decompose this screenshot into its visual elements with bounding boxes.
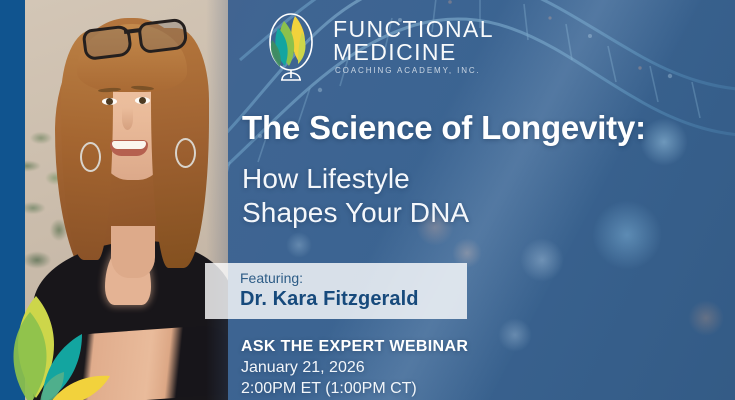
webinar-date: January 21, 2026 (241, 357, 468, 378)
photo-eye-left (102, 98, 117, 105)
speaker-name: Dr. Kara Fitzgerald (240, 287, 467, 312)
photo-eye-right (135, 97, 150, 104)
page-subtitle-line1: How Lifestyle (242, 162, 722, 196)
left-accent-bar (0, 0, 25, 400)
photo-edge-fade (206, 0, 228, 400)
webinar-promo-graphic: FUNCTIONAL MEDICINE COACHING ACADEMY, IN… (0, 0, 735, 400)
photo-earring-right (175, 138, 196, 168)
featuring-panel: Featuring: Dr. Kara Fitzgerald (205, 263, 467, 319)
page-subtitle-line2: Shapes Your DNA (242, 196, 722, 230)
brand-line-functional: FUNCTIONAL (333, 18, 494, 41)
headline-block: The Science of Longevity: How Lifestyle … (242, 108, 722, 230)
photo-earring-left (80, 142, 101, 172)
brand-wordmark: FUNCTIONAL MEDICINE COACHING ACADEMY, IN… (333, 14, 494, 78)
leaf-globe-logo-icon (258, 10, 324, 82)
photo-nose (122, 108, 133, 130)
page-title: The Science of Longevity: (242, 108, 722, 148)
brand-line-medicine: MEDICINE (333, 41, 494, 64)
page-subtitle: How Lifestyle Shapes Your DNA (242, 162, 722, 230)
speaker-photo (25, 0, 228, 400)
brand-logo: FUNCTIONAL MEDICINE COACHING ACADEMY, IN… (258, 10, 494, 82)
featuring-label: Featuring: (240, 270, 467, 287)
webinar-kicker: ASK THE EXPERT WEBINAR (241, 336, 468, 357)
photo-neck (111, 226, 155, 278)
webinar-time: 2:00PM ET (1:00PM CT) (241, 378, 468, 399)
webinar-details: ASK THE EXPERT WEBINAR January 21, 2026 … (241, 336, 468, 399)
photo-smile (110, 140, 148, 156)
brand-line-academy: COACHING ACADEMY, INC. (333, 64, 494, 78)
